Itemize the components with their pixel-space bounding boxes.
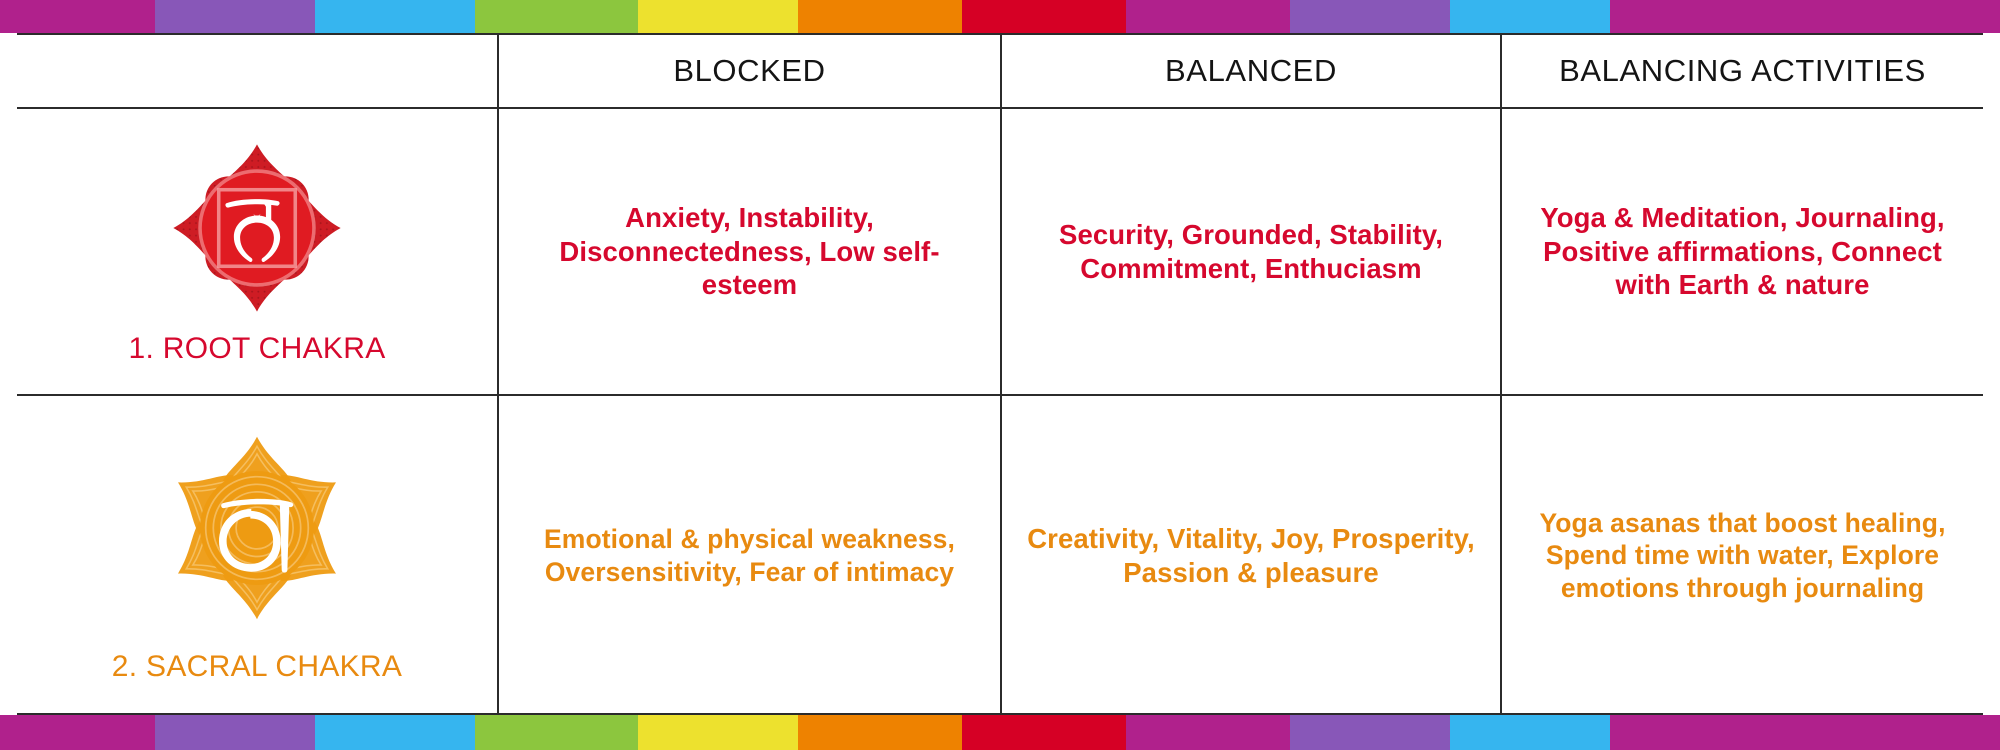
- chakra-chart-page: BLOCKED BALANCED BALANCING ACTIVITIES: [0, 0, 2000, 750]
- chakra-table: BLOCKED BALANCED BALANCING ACTIVITIES: [17, 33, 1983, 715]
- cell-activities-sacral: Yoga asanas that boost healing, Spend ti…: [1500, 396, 1983, 715]
- rainbow-band-blue2: [1450, 715, 1610, 750]
- rainbow-band-yellow: [638, 715, 798, 750]
- rainbow-band-magenta: [0, 715, 155, 750]
- root-chakra-icon: [168, 139, 346, 322]
- rainbow-band-purple: [155, 0, 315, 33]
- rainbow-band-magenta: [0, 0, 155, 33]
- table-header-row: BLOCKED BALANCED BALANCING ACTIVITIES: [17, 35, 1983, 107]
- cell-text-balanced-root: Security, Grounded, Stability, Commitmen…: [1020, 218, 1482, 285]
- sacral-chakra-symbol-group: 2. SACRAL CHAKRA: [35, 427, 479, 684]
- row-label-sacral-chakra: 2. SACRAL CHAKRA: [112, 650, 402, 684]
- table-row: 2. SACRAL CHAKRA Emotional & physical we…: [17, 394, 1983, 715]
- rainbow-band-yellow: [638, 0, 798, 33]
- cell-text-balanced-sacral: Creativity, Vitality, Joy, Prosperity, P…: [1020, 522, 1482, 589]
- sacral-chakra-icon: [162, 433, 352, 628]
- row-label-root-chakra: 1. ROOT CHAKRA: [128, 332, 385, 366]
- cell-balanced-sacral: Creativity, Vitality, Joy, Prosperity, P…: [1000, 396, 1500, 715]
- rainbow-band-red: [962, 0, 1126, 33]
- cell-activities-root: Yoga & Meditation, Journaling, Positive …: [1500, 109, 1983, 394]
- rainbow-band-magenta2: [1126, 715, 1290, 750]
- rainbow-stripe-bottom: [0, 715, 2000, 750]
- header-label-blocked: BLOCKED: [673, 53, 825, 89]
- rainbow-band-green: [475, 0, 638, 33]
- rainbow-band-blue2: [1450, 0, 1610, 33]
- rainbow-band-orange: [798, 715, 962, 750]
- rainbow-band-magenta3: [1610, 0, 2000, 33]
- rainbow-band-green: [475, 715, 638, 750]
- root-chakra-symbol-group: 1. ROOT CHAKRA: [35, 137, 479, 366]
- cell-blocked-sacral: Emotional & physical weakness, Oversensi…: [497, 396, 1000, 715]
- cell-text-blocked-sacral: Emotional & physical weakness, Oversensi…: [517, 523, 982, 588]
- row-symbol-cell-sacral: 2. SACRAL CHAKRA: [17, 396, 497, 715]
- rainbow-band-magenta3: [1610, 715, 2000, 750]
- rainbow-band-purple: [155, 715, 315, 750]
- rainbow-stripe-top: [0, 0, 2000, 33]
- header-label-balanced: BALANCED: [1165, 53, 1337, 89]
- row-symbol-cell-root: 1. ROOT CHAKRA: [17, 109, 497, 394]
- rainbow-band-blue: [315, 0, 475, 33]
- header-cell-blocked: BLOCKED: [497, 35, 1000, 107]
- cell-blocked-root: Anxiety, Instability, Disconnectedness, …: [497, 109, 1000, 394]
- header-cell-balancing-activities: BALANCING ACTIVITIES: [1500, 35, 1983, 107]
- cell-text-activities-root: Yoga & Meditation, Journaling, Positive …: [1520, 201, 1965, 302]
- header-cell-symbol: [17, 35, 497, 107]
- rainbow-band-purple2: [1290, 0, 1450, 33]
- rainbow-band-red: [962, 715, 1126, 750]
- rainbow-band-purple2: [1290, 715, 1450, 750]
- rainbow-band-orange: [798, 0, 962, 33]
- header-cell-balanced: BALANCED: [1000, 35, 1500, 107]
- rainbow-band-magenta2: [1126, 0, 1290, 33]
- table-row: 1. ROOT CHAKRA Anxiety, Instability, Dis…: [17, 107, 1983, 394]
- cell-balanced-root: Security, Grounded, Stability, Commitmen…: [1000, 109, 1500, 394]
- cell-text-activities-sacral: Yoga asanas that boost healing, Spend ti…: [1520, 507, 1965, 604]
- header-label-balancing-activities: BALANCING ACTIVITIES: [1559, 53, 1926, 89]
- cell-text-blocked-root: Anxiety, Instability, Disconnectedness, …: [517, 201, 982, 302]
- rainbow-band-blue: [315, 715, 475, 750]
